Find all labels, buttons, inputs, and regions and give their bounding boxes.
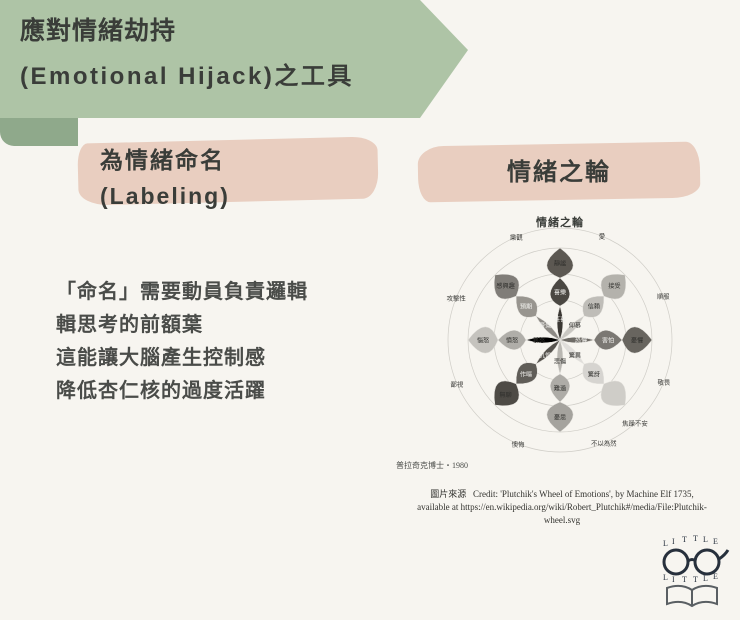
- svg-text:L: L: [703, 535, 708, 544]
- left-heading-line1: 為情緒命名: [100, 142, 430, 178]
- credit-line2: available at https://en.wikipedia.org/wi…: [417, 502, 707, 512]
- slide-root: 應對情緒劫持 (Emotional Hijack)之工具 為情緒命名 (Labe…: [0, 0, 740, 620]
- wheel-petal-label: 恐懼: [575, 337, 587, 345]
- wheel-petal-label: 狂喜: [554, 315, 566, 323]
- emotion-wheel-svg: 狂喜喜樂靜謐仰慕信賴接受恐懼害怕憂懼驚異驚訝悲傷難過憂思仇恨作嘔無聊暴怒憤怒惱怒…: [400, 228, 720, 464]
- open-book-icon: [667, 586, 717, 606]
- wheel-petal-label: 無聊: [499, 391, 511, 399]
- svg-text:T: T: [682, 575, 687, 584]
- little-little-logo: LIT TLE LIT TLE: [655, 534, 731, 608]
- header-title-group: 應對情緒劫持 (Emotional Hijack)之工具: [20, 8, 450, 100]
- logo-letters-top: LIT TLE: [663, 534, 718, 548]
- svg-text:L: L: [663, 539, 668, 548]
- wheel-dyad-label: 樂觀: [510, 232, 523, 241]
- left-heading-line2: (Labeling): [100, 178, 430, 214]
- wheel-petal-label: 預期: [520, 303, 532, 311]
- wheel-petal-label: 驚訝: [588, 370, 600, 378]
- right-heading-group: 情緒之輪: [418, 152, 700, 187]
- svg-text:E: E: [713, 537, 718, 546]
- wheel-petal-label: 喜樂: [554, 289, 567, 297]
- wheel-petal-label: 悲傷: [554, 358, 566, 366]
- wheel-petal-label: 感興趣: [496, 282, 515, 290]
- wheel-petal-label: 憂懼: [631, 337, 643, 345]
- svg-text:I: I: [672, 575, 675, 584]
- svg-text:L: L: [663, 573, 668, 582]
- glasses-icon: [664, 550, 728, 574]
- wheel-dyad-label: 不以為然: [591, 439, 617, 448]
- wheel-petal-label: 仰慕: [569, 322, 581, 330]
- header-title-line2: (Emotional Hijack)之工具: [20, 54, 450, 100]
- emotion-wheel: 情緒之輪 狂喜喜樂靜謐仰慕信賴接受恐懼害怕憂懼驚異驚訝悲傷難過憂思仇恨作嘔無聊暴…: [400, 214, 720, 464]
- wheel-petal-label: 暴怒: [533, 337, 545, 345]
- wheel-dyad-label: 順服: [657, 293, 670, 301]
- svg-text:I: I: [672, 537, 675, 546]
- svg-text:T: T: [693, 575, 698, 584]
- credit-line1: Credit: 'Plutchik's Wheel of Emotions', …: [473, 489, 694, 499]
- wheel-petal-label: 信賴: [588, 303, 600, 311]
- body-copy: 「命名」需要動員負責邏輯 輯思考的前額葉 這能讓大腦產生控制感 降低杏仁核的過度…: [56, 276, 386, 408]
- wheel-petal-label: 仇恨: [539, 351, 551, 359]
- wheel-petal-segment: [557, 340, 563, 374]
- credit-label: 圖片來源: [430, 489, 466, 499]
- svg-text:T: T: [693, 534, 698, 543]
- body-line-4: 降低杏仁核的過度活躍: [56, 375, 386, 408]
- wheel-petal-label: 驚異: [569, 351, 581, 359]
- body-line-3: 這能讓大腦產生控制感: [56, 342, 386, 375]
- wheel-petal-label: 憂思: [554, 415, 566, 422]
- wheel-petal-label: 惱怒: [477, 337, 489, 345]
- right-heading: 情緒之輪: [418, 152, 700, 187]
- wheel-dyad-label: 愛: [599, 232, 606, 241]
- wheel-petal-label: 警覺: [539, 322, 551, 330]
- wheel-petal-label: 害怕: [602, 337, 614, 345]
- wheel-petal-label: 接受: [608, 282, 620, 290]
- wheel-dyad-label: 敬畏: [657, 377, 670, 386]
- wheel-dyad-label: 焦躁不安: [622, 419, 648, 428]
- wheel-author-caption: 普拉奇克博士・1980: [396, 460, 468, 471]
- wheel-dyad-label: 懊悔: [512, 439, 525, 448]
- wheel-petals: [468, 248, 652, 432]
- wheel-petal-segment: [601, 381, 626, 406]
- wheel-petal-label: 作嘔: [520, 370, 532, 378]
- wheel-petal-label: 憤怒: [506, 337, 518, 345]
- wheel-dyad-label: 鄙視: [451, 379, 464, 388]
- wheel-petal-label: 靜謐: [554, 260, 566, 268]
- body-line-2: 輯思考的前額葉: [56, 309, 386, 342]
- image-credit: 圖片來源 Credit: 'Plutchik's Wheel of Emotio…: [392, 488, 732, 527]
- wheel-petal-label: 難過: [554, 385, 567, 393]
- credit-line3: wheel.svg: [544, 515, 580, 525]
- header-title-line1: 應對情緒劫持: [20, 8, 450, 54]
- body-line-1: 「命名」需要動員負責邏輯: [56, 276, 386, 309]
- svg-text:T: T: [682, 535, 687, 544]
- wheel-dyad-label: 攻擊性: [447, 294, 467, 303]
- left-heading-group: 為情緒命名 (Labeling): [100, 142, 430, 214]
